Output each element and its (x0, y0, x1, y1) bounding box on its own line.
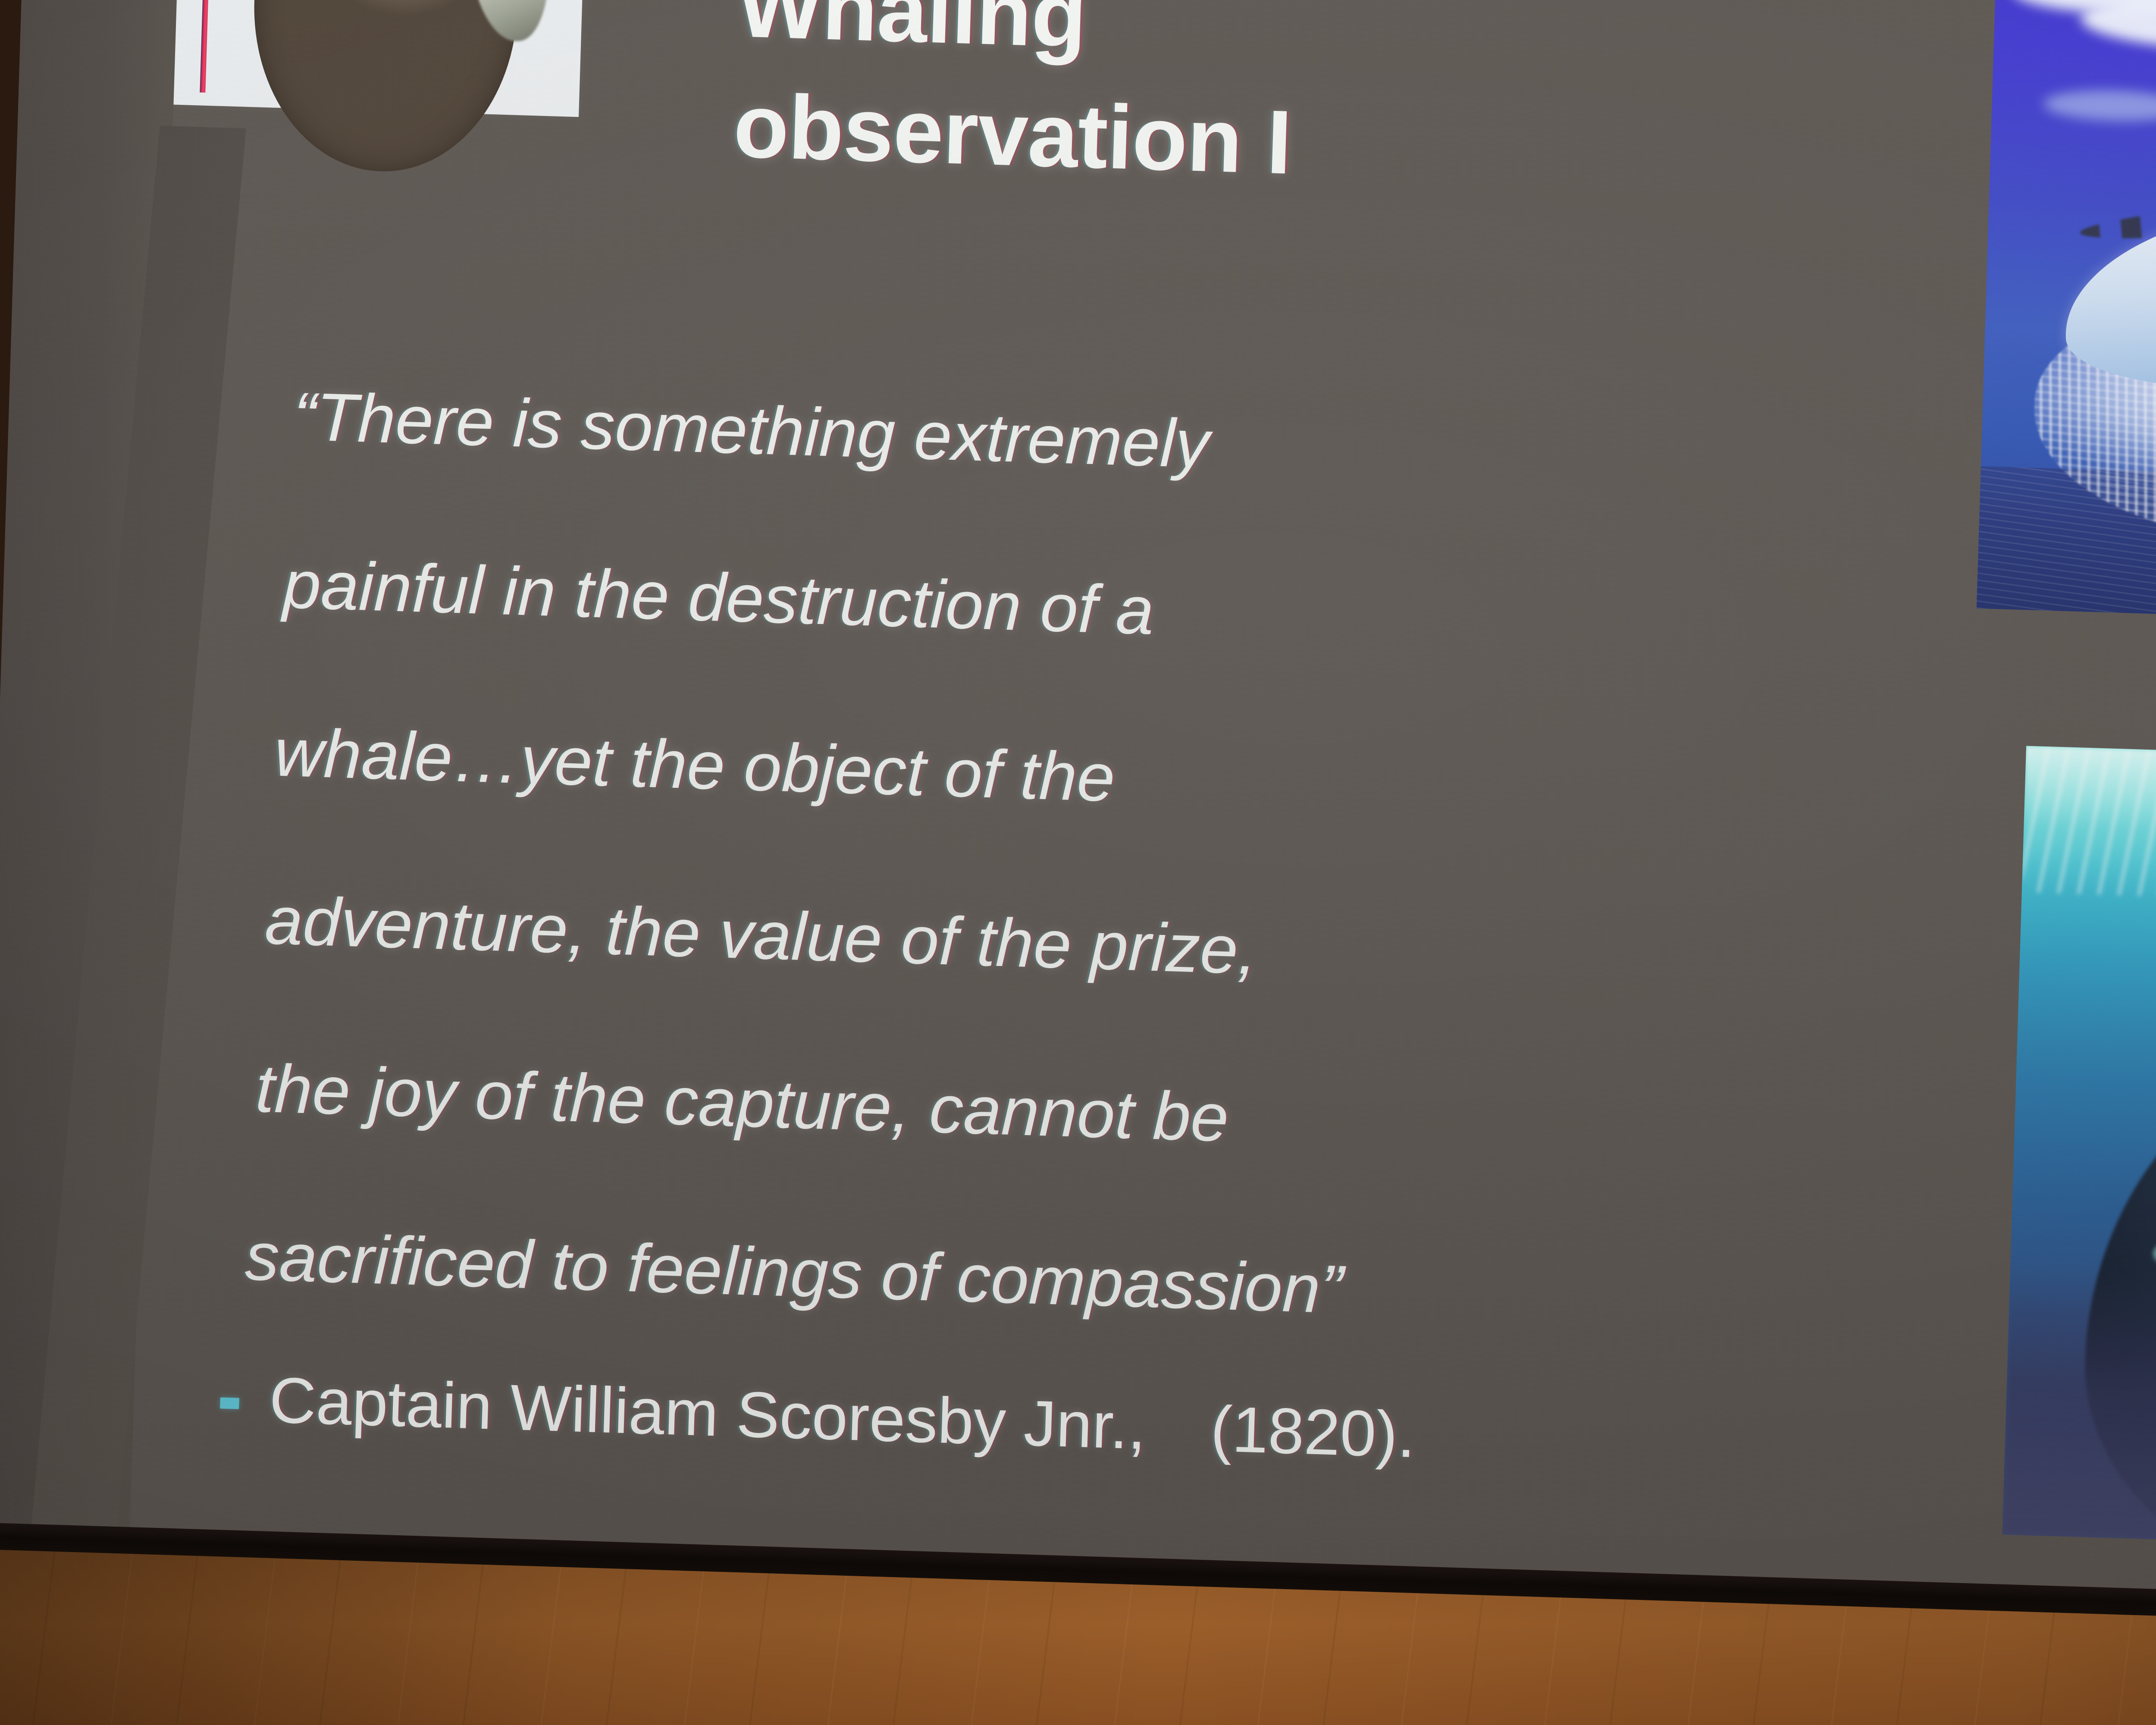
quote-line-1: “There is something extremely (292, 382, 1967, 501)
quote-line-3: whale…yet the object of the (273, 718, 1956, 837)
portrait-card (169, 0, 584, 117)
projection-screen: Whaling observation I “There is somethin… (0, 0, 2156, 1630)
quote-line-5: the joy of the capture, cannot be (254, 1054, 1946, 1174)
deep-water-shadow (2002, 1267, 2156, 1555)
right-whale-underwater-head (2002, 746, 2156, 1555)
portrait-cravat (466, 0, 555, 44)
attribution-year: (1820). (1210, 1392, 1416, 1471)
attribution-name: Captain William Scoresby Jnr., (268, 1364, 1147, 1463)
slide-title: Whaling observation I (732, 0, 1903, 221)
humpback-whale-fluke-breaching (1977, 0, 2156, 630)
red-accent-rule (200, 0, 211, 93)
portrait-of-william-scoresby (249, 0, 522, 176)
slide-content: Whaling observation I “There is somethin… (0, 0, 2156, 1604)
photo-of-projected-slide: Whaling observation I “There is somethin… (0, 0, 2156, 1725)
water-surface-light (2022, 746, 2156, 912)
quote-line-2: painful in the destruction of a (282, 550, 1962, 670)
quote-line-6: sacrificed to feelings of compassion” (244, 1222, 1941, 1342)
quote-block: “There is something extremely painful in… (258, 382, 1967, 1342)
bullet-dash-icon (220, 1397, 239, 1409)
quote-attribution: Captain William Scoresby Jnr.,(1820). (219, 1366, 2032, 1486)
quote-line-4: adventure, the value of the prize, (264, 886, 1951, 1006)
